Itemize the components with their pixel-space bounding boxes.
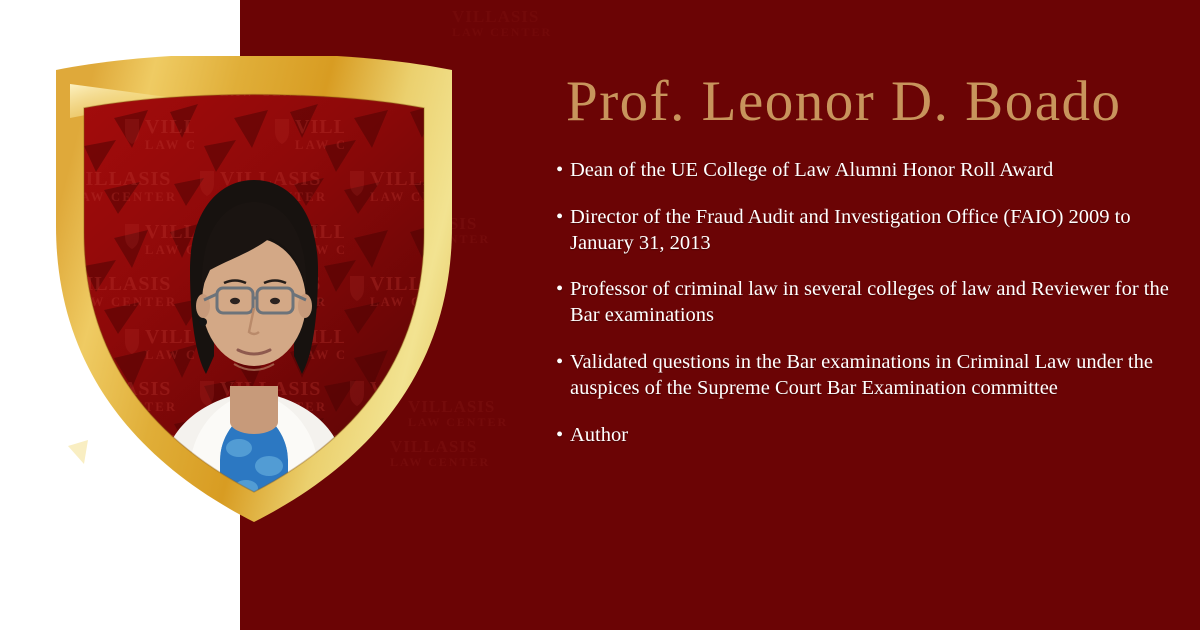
poster-canvas: VILLASIS LAW CENTER VILLASIS LAW CENTER … [0, 0, 1200, 630]
shield-inner-field [44, 56, 464, 526]
gold-highlight-shard [68, 440, 88, 464]
list-item-label: Validated questions in the Bar examinati… [570, 351, 1153, 399]
credentials-list: • Dean of the UE College of Law Alumni H… [556, 158, 1176, 449]
bullet-icon: • [556, 423, 563, 449]
shield-badge: VILLASIS LAW CENTER VILLASIS LAW CENTER [44, 56, 464, 526]
content-column: Prof. Leonor D. Boado • Dean of the UE C… [556, 72, 1176, 469]
list-item: • Validated questions in the Bar examina… [556, 350, 1170, 402]
list-item: • Dean of the UE College of Law Alumni H… [556, 158, 1170, 184]
list-item-label: Director of the Fraud Audit and Investig… [570, 206, 1131, 254]
page-title: Prof. Leonor D. Boado [566, 72, 1176, 132]
list-item-label: Author [570, 424, 628, 446]
list-item: • Author [556, 423, 1170, 449]
bullet-icon: • [556, 350, 563, 376]
bullet-icon: • [556, 205, 563, 231]
bullet-icon: • [556, 158, 563, 184]
list-item-label: Dean of the UE College of Law Alumni Hon… [570, 159, 1053, 181]
shield-graphic: VILLASIS LAW CENTER VILLASIS LAW CENTER [44, 56, 464, 526]
list-item: • Director of the Fraud Audit and Invest… [556, 205, 1170, 257]
list-item: • Professor of criminal law in several c… [556, 277, 1170, 329]
list-item-label: Professor of criminal law in several col… [570, 278, 1169, 326]
bullet-icon: • [556, 277, 563, 303]
